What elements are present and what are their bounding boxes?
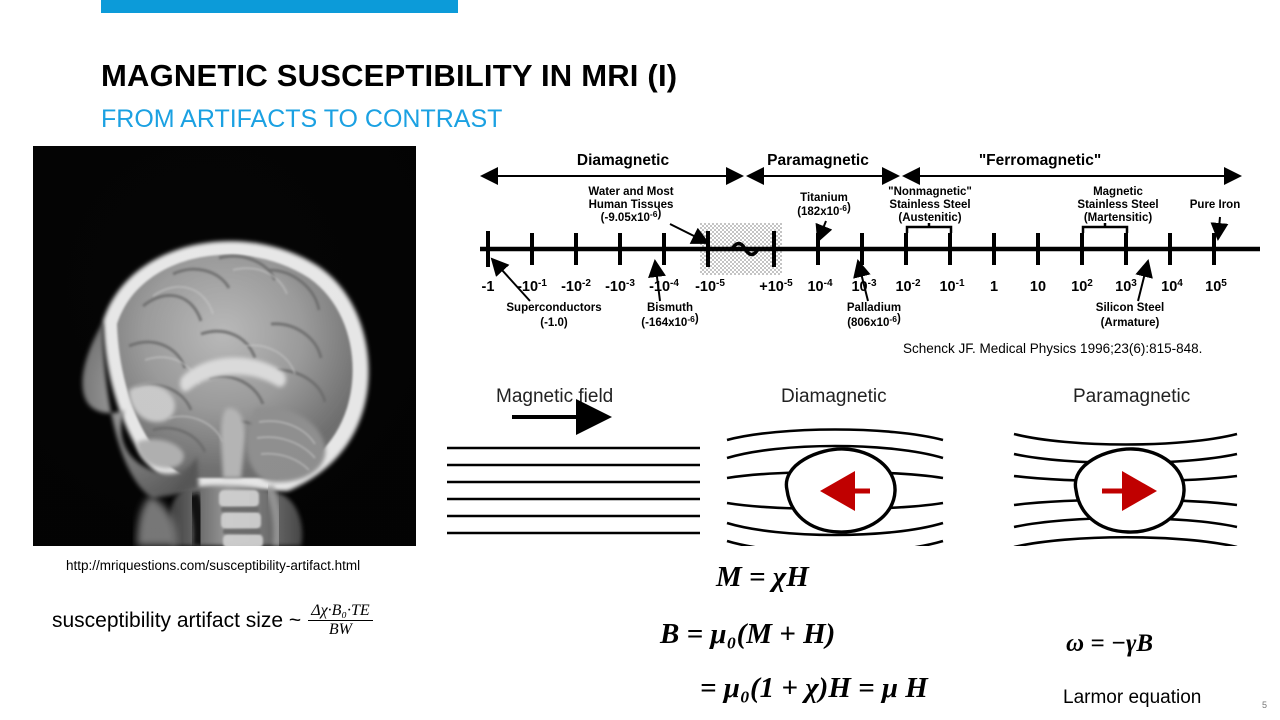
artifact-formula-numerator: Δχ·B₀·TE bbox=[308, 603, 372, 620]
svg-text:Water and Most: Water and Most bbox=[588, 186, 673, 198]
svg-text:Magnetic: Magnetic bbox=[1093, 186, 1143, 198]
svg-text:10-2: 10-2 bbox=[895, 278, 920, 295]
svg-text:Stainless Steel: Stainless Steel bbox=[889, 199, 970, 211]
svg-text:Diamagnetic: Diamagnetic bbox=[577, 152, 670, 169]
svg-text:(-1.0): (-1.0) bbox=[540, 317, 568, 329]
artifact-formula-denominator: BW bbox=[308, 620, 372, 639]
artifact-formula-fraction: Δχ·B₀·TE BW bbox=[308, 603, 372, 639]
induction-equation: B = μ₀(M + H) bbox=[660, 618, 835, 651]
svg-text:(-164x10-6): (-164x10-6) bbox=[641, 313, 699, 329]
artifact-formula-lead: susceptibility artifact size ~ bbox=[52, 609, 301, 633]
svg-text:"Nonmagnetic": "Nonmagnetic" bbox=[888, 186, 972, 198]
page-title: MAGNETIC SUSCEPTIBILITY IN MRI (I) bbox=[101, 58, 677, 94]
figure-citation: Schenck JF. Medical Physics 1996;23(6):8… bbox=[903, 341, 1202, 356]
svg-text:105: 105 bbox=[1205, 278, 1227, 295]
field-line-graphic bbox=[440, 386, 1270, 546]
svg-text:Pure Iron: Pure Iron bbox=[1190, 199, 1240, 211]
svg-text:1: 1 bbox=[990, 279, 998, 295]
svg-text:10: 10 bbox=[1030, 279, 1046, 295]
svg-text:104: 104 bbox=[1161, 278, 1183, 295]
svg-text:-1: -1 bbox=[482, 279, 495, 295]
svg-text:Bismuth: Bismuth bbox=[647, 302, 693, 314]
svg-text:-10-5: -10-5 bbox=[695, 278, 725, 295]
svg-text:(806x10-6): (806x10-6) bbox=[847, 313, 901, 329]
svg-text:10-4: 10-4 bbox=[807, 278, 832, 295]
mri-image bbox=[33, 146, 416, 546]
svg-text:Palladium: Palladium bbox=[847, 302, 901, 314]
svg-text:Superconductors: Superconductors bbox=[506, 302, 601, 314]
field-line-diagrams: Magnetic field Diamagnetic Paramagnetic bbox=[440, 386, 1270, 546]
svg-text:-10-2: -10-2 bbox=[561, 278, 591, 295]
svg-text:Paramagnetic: Paramagnetic bbox=[767, 152, 869, 169]
svg-text:Stainless Steel: Stainless Steel bbox=[1077, 199, 1158, 211]
magnetization-equation: M = χH bbox=[716, 561, 809, 594]
svg-text:-10-4: -10-4 bbox=[649, 278, 679, 295]
induction-equation-continued: = μ₀(1 + χ)H = μ H bbox=[700, 672, 928, 705]
mri-source-caption: http://mriquestions.com/susceptibility-a… bbox=[66, 558, 416, 573]
svg-text:Silicon Steel: Silicon Steel bbox=[1096, 302, 1164, 314]
top-accent-bar bbox=[101, 0, 458, 13]
slide: MAGNETIC SUSCEPTIBILITY IN MRI (I) FROM … bbox=[0, 0, 1280, 720]
mri-image-graphic bbox=[33, 146, 416, 546]
svg-text:(Austenitic): (Austenitic) bbox=[898, 212, 961, 224]
svg-text:103: 103 bbox=[1115, 278, 1137, 295]
larmor-equation: ω = −γB bbox=[1066, 630, 1153, 658]
susceptibility-scale-graphic: Diamagnetic Paramagnetic "Ferromagnetic" bbox=[470, 145, 1270, 345]
svg-text:"Ferromagnetic": "Ferromagnetic" bbox=[979, 152, 1101, 169]
svg-text:102: 102 bbox=[1071, 278, 1093, 295]
svg-text:(182x10-6): (182x10-6) bbox=[797, 202, 851, 218]
svg-text:-10-3: -10-3 bbox=[605, 278, 635, 295]
page-subtitle: FROM ARTIFACTS TO CONTRAST bbox=[101, 105, 502, 134]
svg-text:10-1: 10-1 bbox=[939, 278, 964, 295]
susceptibility-scale-figure: Diamagnetic Paramagnetic "Ferromagnetic" bbox=[470, 145, 1270, 345]
svg-text:(Martensitic): (Martensitic) bbox=[1084, 212, 1153, 224]
larmor-equation-label: Larmor equation bbox=[1063, 687, 1201, 709]
svg-text:(Armature): (Armature) bbox=[1101, 317, 1160, 329]
slide-number: 5 bbox=[1262, 700, 1267, 710]
artifact-size-formula: susceptibility artifact size ~ Δχ·B₀·TE … bbox=[52, 603, 373, 639]
svg-text:+10-5: +10-5 bbox=[759, 278, 793, 295]
